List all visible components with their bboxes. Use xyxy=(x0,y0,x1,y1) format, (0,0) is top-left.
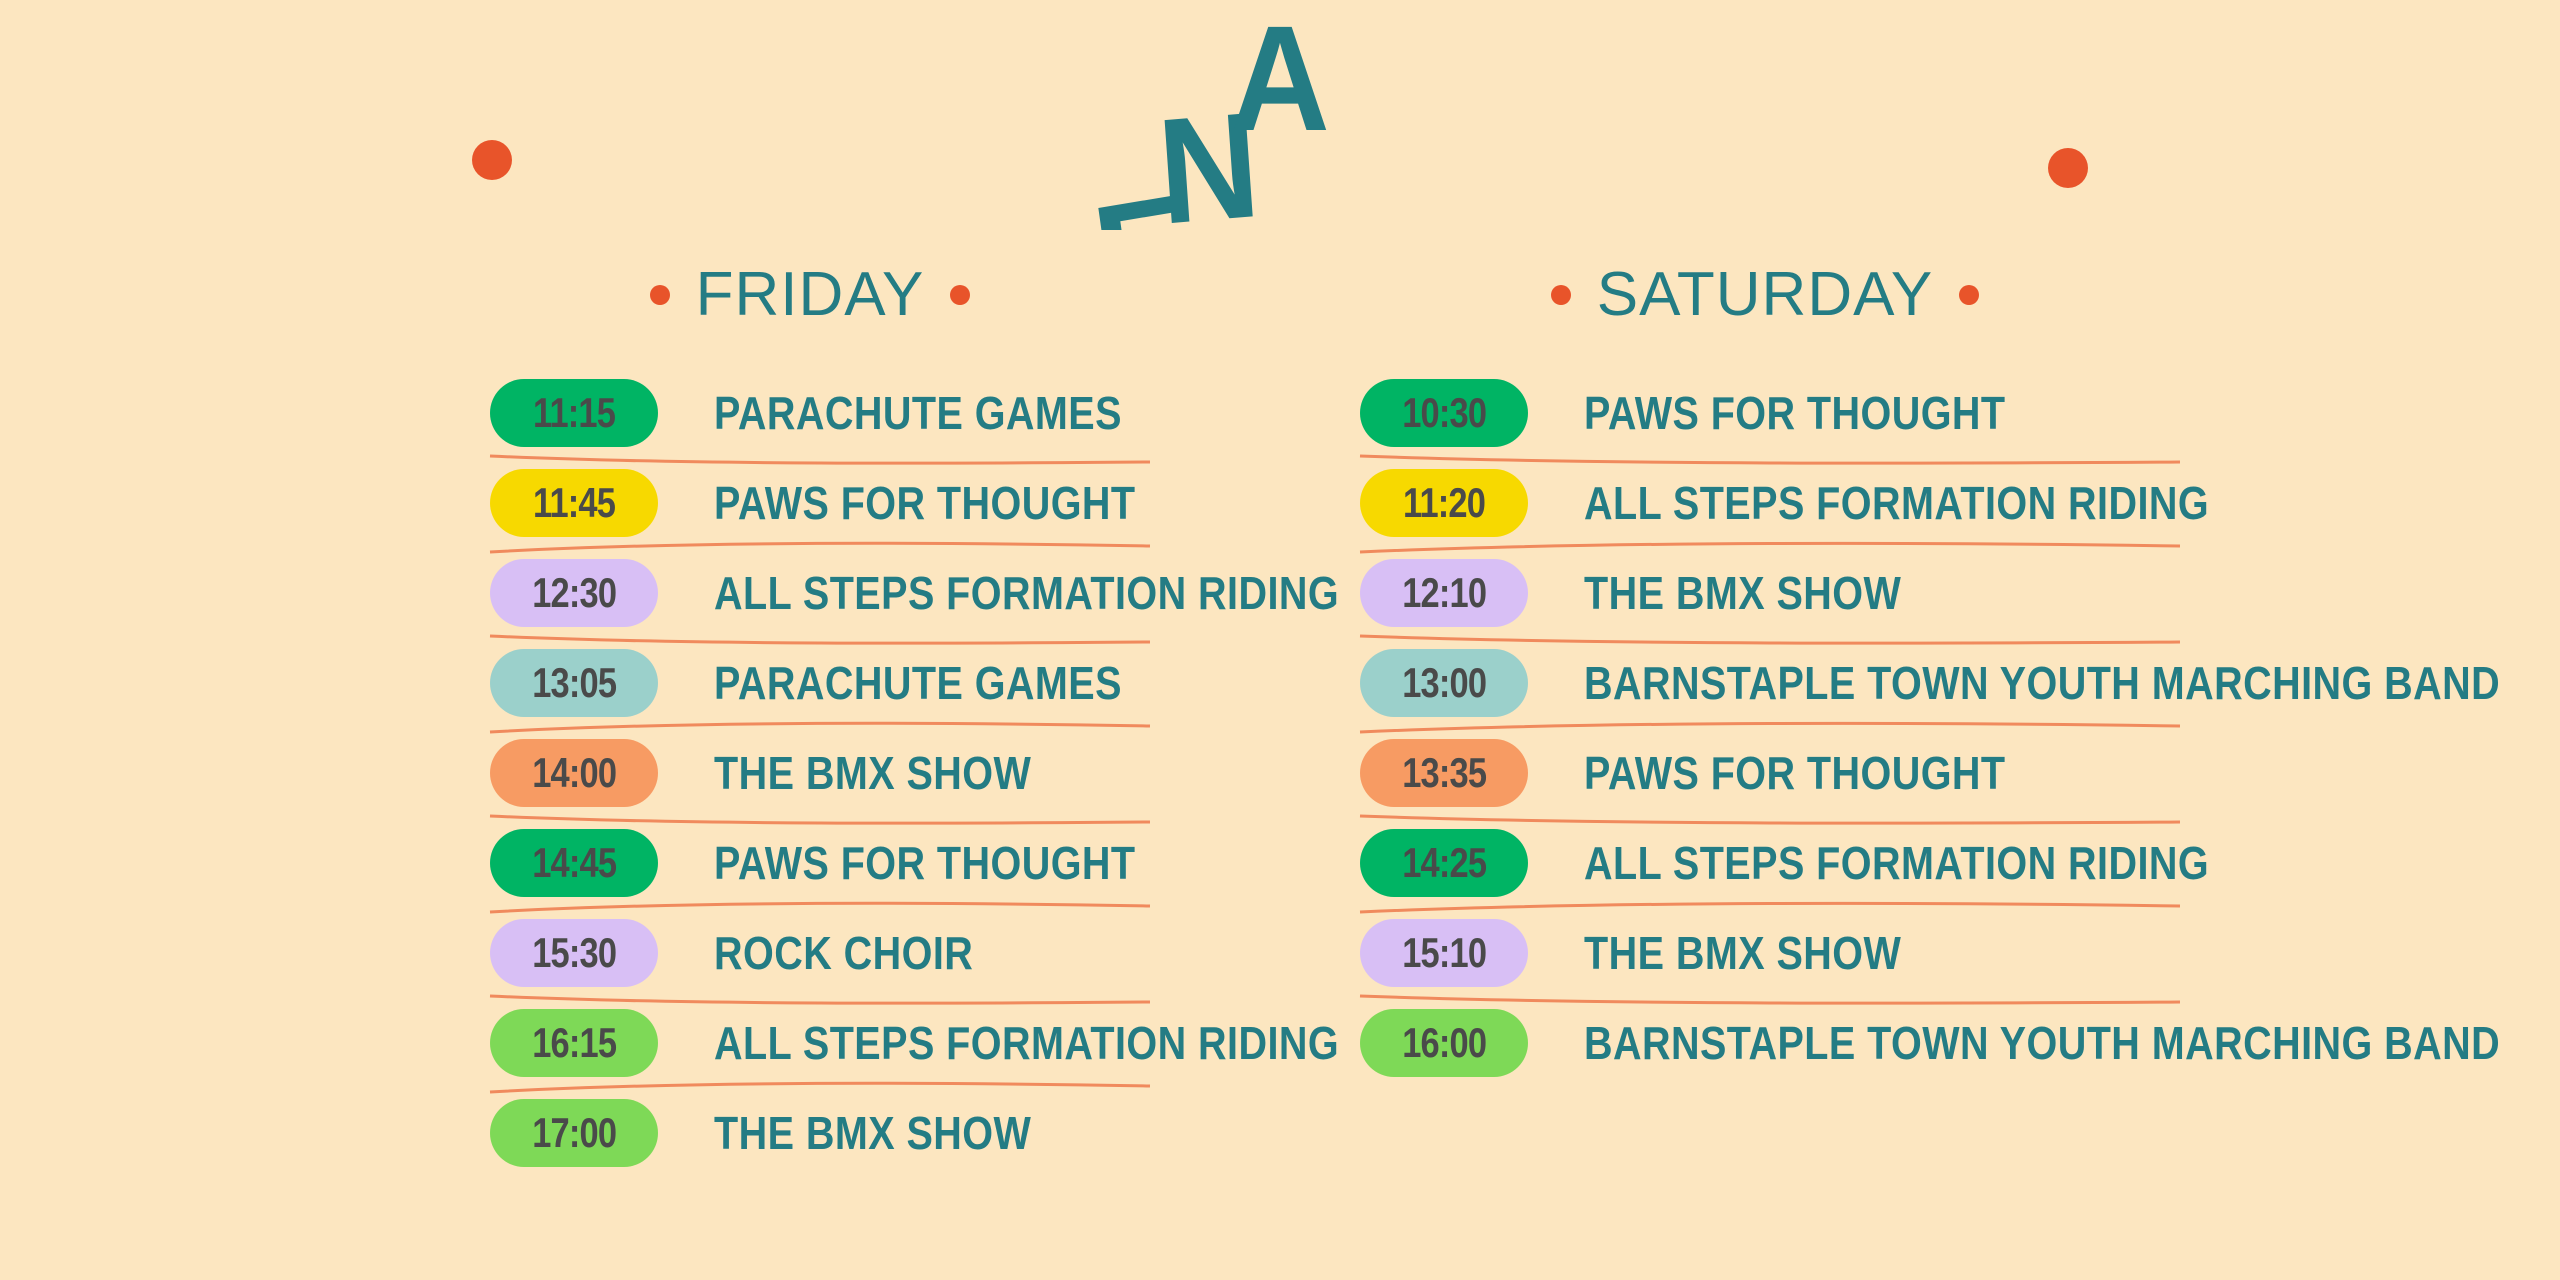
title-letters: MAINARENASCHEDULE xyxy=(556,0,2497,230)
event-title: PAWS FOR THOUGHT xyxy=(714,840,1136,886)
schedule-list-friday: 11:15PARACHUTE GAMES11:45PAWS FOR THOUGH… xyxy=(490,368,1150,1178)
event-time: 13:00 xyxy=(1402,662,1486,704)
event-title: ALL STEPS FORMATION RIDING xyxy=(1584,840,2209,886)
event-time: 11:20 xyxy=(1403,482,1485,524)
event-time-pill: 12:10 xyxy=(1360,559,1528,627)
event-time: 13:05 xyxy=(532,662,616,704)
event-time: 10:30 xyxy=(1402,392,1486,434)
page-title-banner: MAINARENASCHEDULE xyxy=(0,0,2560,230)
event-title: ALL STEPS FORMATION RIDING xyxy=(714,570,1339,616)
schedule-row[interactable]: 15:10THE BMX SHOW xyxy=(1360,908,2180,998)
event-title: BARNSTAPLE TOWN YOUTH MARCHING BAND xyxy=(1584,660,2500,706)
event-time: 16:00 xyxy=(1402,1022,1486,1064)
event-time: 15:30 xyxy=(532,932,616,974)
schedule-row[interactable]: 12:30ALL STEPS FORMATION RIDING xyxy=(490,548,1150,638)
event-title: ALL STEPS FORMATION RIDING xyxy=(714,1020,1339,1066)
event-title: PARACHUTE GAMES xyxy=(714,660,1122,706)
event-title: PAWS FOR THOUGHT xyxy=(1584,750,2006,796)
event-time-pill: 16:15 xyxy=(490,1009,658,1077)
event-title: THE BMX SHOW xyxy=(1584,570,1901,616)
arched-title: MAINARENASCHEDULE xyxy=(0,0,2560,230)
event-time-pill: 13:35 xyxy=(1360,739,1528,807)
schedule-row[interactable]: 14:25ALL STEPS FORMATION RIDING xyxy=(1360,818,2180,908)
event-time: 14:25 xyxy=(1402,842,1486,884)
event-time: 14:45 xyxy=(532,842,616,884)
schedule-columns: FRIDAY 11:15PARACHUTE GAMES11:45PAWS FOR… xyxy=(0,250,2560,1280)
event-time-pill: 14:00 xyxy=(490,739,658,807)
title-right-dot xyxy=(2048,148,2088,188)
schedule-row[interactable]: 16:15ALL STEPS FORMATION RIDING xyxy=(490,998,1150,1088)
day-heading-friday: FRIDAY xyxy=(480,250,1140,340)
schedule-row[interactable]: 13:05PARACHUTE GAMES xyxy=(490,638,1150,728)
schedule-row[interactable]: 16:00BARNSTAPLE TOWN YOUTH MARCHING BAND xyxy=(1360,998,2180,1088)
event-time: 16:15 xyxy=(532,1022,616,1064)
event-time: 14:00 xyxy=(532,752,616,794)
event-title: PAWS FOR THOUGHT xyxy=(1584,390,2006,436)
event-title: THE BMX SHOW xyxy=(1584,930,1901,976)
day-name-saturday: SATURDAY xyxy=(1597,264,1933,326)
day-column-saturday: SATURDAY 10:30PAWS FOR THOUGHT11:20ALL S… xyxy=(1360,250,2180,1088)
saturday-left-dot xyxy=(1551,285,1571,305)
schedule-row[interactable]: 12:10THE BMX SHOW xyxy=(1360,548,2180,638)
schedule-row[interactable]: 11:45PAWS FOR THOUGHT xyxy=(490,458,1150,548)
saturday-right-dot xyxy=(1959,285,1979,305)
schedule-row[interactable]: 14:00THE BMX SHOW xyxy=(490,728,1150,818)
event-time-pill: 15:30 xyxy=(490,919,658,987)
day-heading-saturday: SATURDAY xyxy=(1355,250,2175,340)
schedule-row[interactable]: 11:15PARACHUTE GAMES xyxy=(490,368,1150,458)
event-time-pill: 13:00 xyxy=(1360,649,1528,717)
event-time: 13:35 xyxy=(1402,752,1486,794)
title-left-dot xyxy=(472,140,512,180)
event-time: 12:30 xyxy=(532,572,616,614)
event-title: PAWS FOR THOUGHT xyxy=(714,480,1136,526)
title-letter: A xyxy=(1230,0,1330,162)
event-time: 12:10 xyxy=(1402,572,1486,614)
event-title: PARACHUTE GAMES xyxy=(714,390,1122,436)
event-time-pill: 17:00 xyxy=(490,1099,658,1167)
friday-left-dot xyxy=(650,285,670,305)
event-time: 17:00 xyxy=(532,1112,616,1154)
event-time-pill: 14:45 xyxy=(490,829,658,897)
event-title: BARNSTAPLE TOWN YOUTH MARCHING BAND xyxy=(1584,1020,2500,1066)
day-name-friday: FRIDAY xyxy=(696,264,925,326)
event-time-pill: 15:10 xyxy=(1360,919,1528,987)
event-time-pill: 11:15 xyxy=(490,379,658,447)
event-title: THE BMX SHOW xyxy=(714,1110,1031,1156)
schedule-row[interactable]: 15:30ROCK CHOIR xyxy=(490,908,1150,998)
schedule-row[interactable]: 13:00BARNSTAPLE TOWN YOUTH MARCHING BAND xyxy=(1360,638,2180,728)
event-time-pill: 12:30 xyxy=(490,559,658,627)
friday-right-dot xyxy=(950,285,970,305)
day-column-friday: FRIDAY 11:15PARACHUTE GAMES11:45PAWS FOR… xyxy=(490,250,1150,1178)
event-time-pill: 13:05 xyxy=(490,649,658,717)
event-time-pill: 11:45 xyxy=(490,469,658,537)
event-time: 11:45 xyxy=(533,482,615,524)
event-time-pill: 10:30 xyxy=(1360,379,1528,447)
event-time: 11:15 xyxy=(533,392,615,434)
event-time-pill: 14:25 xyxy=(1360,829,1528,897)
schedule-row[interactable]: 13:35PAWS FOR THOUGHT xyxy=(1360,728,2180,818)
event-time-pill: 11:20 xyxy=(1360,469,1528,537)
event-title: ROCK CHOIR xyxy=(714,930,973,976)
event-time-pill: 16:00 xyxy=(1360,1009,1528,1077)
schedule-row[interactable]: 14:45PAWS FOR THOUGHT xyxy=(490,818,1150,908)
event-time: 15:10 xyxy=(1402,932,1486,974)
schedule-row[interactable]: 10:30PAWS FOR THOUGHT xyxy=(1360,368,2180,458)
schedule-row[interactable]: 17:00THE BMX SHOW xyxy=(490,1088,1150,1178)
event-title: ALL STEPS FORMATION RIDING xyxy=(1584,480,2209,526)
event-title: THE BMX SHOW xyxy=(714,750,1031,796)
schedule-list-saturday: 10:30PAWS FOR THOUGHT11:20ALL STEPS FORM… xyxy=(1360,368,2180,1088)
schedule-row[interactable]: 11:20ALL STEPS FORMATION RIDING xyxy=(1360,458,2180,548)
